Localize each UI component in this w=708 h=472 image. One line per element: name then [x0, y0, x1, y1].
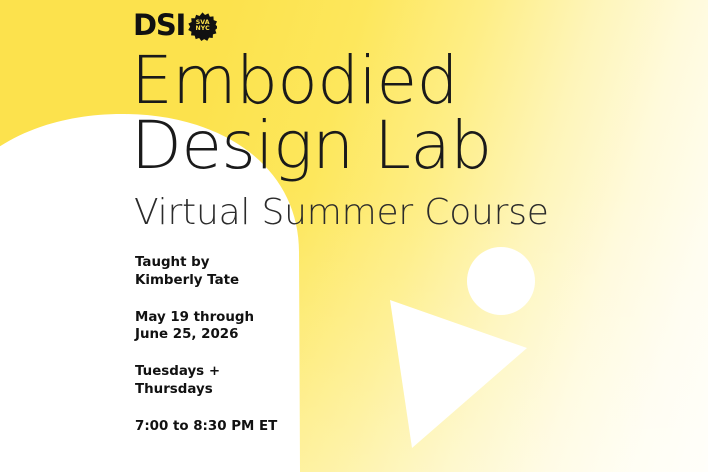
dsi-sva-logo: DSI SVA NYC — [133, 11, 217, 41]
sva-nyc-badge-icon: SVA NYC — [188, 12, 217, 41]
detail-days: Tuesdays + Thursdays — [135, 363, 335, 399]
detail-time: 7:00 to 8:30 PM ET — [135, 418, 335, 436]
page-subtitle: Virtual Summer Course — [134, 194, 549, 232]
sva-nyc-badge-label: SVA NYC — [188, 12, 217, 41]
course-details-list: Taught by Kimberly Tate May 19 through J… — [135, 254, 335, 436]
logo-wordmark: DSI — [133, 11, 185, 40]
detail-dates: May 19 through June 25, 2026 — [135, 309, 335, 345]
white-triangle-play-shape — [390, 300, 527, 448]
badge-line-nyc: NYC — [196, 26, 210, 33]
detail-instructor: Taught by Kimberly Tate — [135, 254, 335, 290]
page-title: Embodied Design Lab — [131, 48, 651, 179]
white-circle-shape — [467, 247, 535, 315]
poster-canvas: DSI SVA NYC Embodied Design Lab Virtual … — [0, 0, 708, 472]
